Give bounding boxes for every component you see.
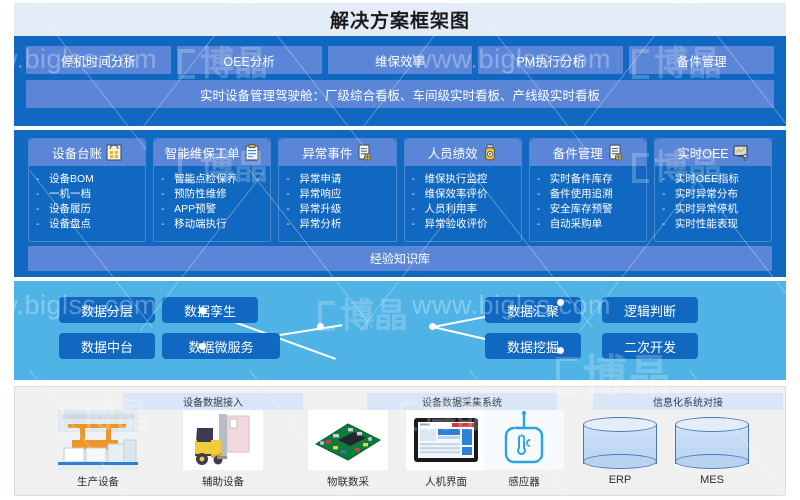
- list-item: -实时OEE指标: [655, 173, 771, 186]
- list-item-label: 异常响应: [299, 188, 395, 201]
- list-item-label: 异常分析: [299, 218, 395, 231]
- cockpit-bar[interactable]: 实时设备管理驾驶舱：厂级综合看板、车间级实时看板、产线级实时看板: [26, 80, 774, 108]
- connector-dot: [199, 307, 206, 314]
- system-cylinder-mes[interactable]: [675, 417, 749, 469]
- module-body: -设备BOM -一机一档 -设备履历 -设备盘点: [29, 166, 145, 241]
- bullet-dash: -: [537, 203, 550, 216]
- cylinder-top: [583, 417, 657, 432]
- platform-pill-logic-judgement[interactable]: 逻辑判断: [602, 297, 698, 323]
- connector-dot: [429, 323, 436, 330]
- platform-pill-data-microservice[interactable]: 数据微服务: [162, 333, 280, 359]
- list-item: -设备盘点: [29, 218, 145, 231]
- device-auxiliary-equipment[interactable]: 辅助设备: [180, 410, 266, 489]
- list-item-label: 维保执行监控: [425, 173, 521, 186]
- list-item-label: 设备BOM: [49, 173, 145, 186]
- knowledge-base-bar[interactable]: 经验知识库: [28, 246, 772, 271]
- bullet-dash: -: [412, 218, 425, 231]
- bullet-dash: -: [161, 218, 174, 231]
- list-item: -异常分析: [279, 218, 395, 231]
- performance-badge-icon: [482, 144, 498, 161]
- device-production-equipment[interactable]: 生产设备: [55, 410, 141, 489]
- list-item: -异常升级: [279, 203, 395, 216]
- list-item: -预防性维修: [154, 188, 270, 201]
- hmi-tablet-photo: [406, 410, 486, 470]
- list-item-label: 备件使用追溯: [550, 188, 646, 201]
- list-item-label: 人员利用率: [425, 203, 521, 216]
- list-item-label: 设备盘点: [49, 218, 145, 231]
- device-iot-acquisition[interactable]: 物联数采: [305, 410, 391, 489]
- work-order-clipboard-icon: [244, 144, 260, 161]
- modules-section: 设备台账 -设备BOM -一机一档 -设备履历 -设备盘点: [14, 130, 786, 277]
- list-item: -移动端执行: [154, 218, 270, 231]
- cylinder-bottom: [675, 454, 749, 469]
- iot-circuit-board-photo: [308, 410, 388, 470]
- device-sensor[interactable]: 感应器: [481, 410, 567, 489]
- list-item: -设备BOM: [29, 173, 145, 186]
- system-caption-mes: MES: [675, 474, 749, 486]
- platform-pill-data-midplatform[interactable]: 数据中台: [59, 333, 155, 359]
- module-title: 人员绩效: [428, 143, 478, 162]
- equipment-ledger-icon: [106, 144, 122, 161]
- module-smart-work-order[interactable]: 智能维保工单 -智能点检保养 -预防性维修 -APP预警 -移动端执行: [153, 138, 271, 242]
- exception-document-icon: [356, 144, 372, 161]
- production-equipment-photo: [58, 410, 138, 470]
- list-item: -实时异常停机: [655, 203, 771, 216]
- realtime-oee-monitor-icon: [733, 144, 749, 161]
- platform-pill-digital-twin[interactable]: 数据孪生: [162, 297, 258, 323]
- analytics-button-pm-execution[interactable]: PM执行分析: [478, 46, 623, 74]
- list-item: -维保效率评价: [405, 188, 521, 201]
- module-title: 实时OEE: [677, 143, 728, 162]
- list-item-label: 实时性能表现: [675, 218, 771, 231]
- module-realtime-oee[interactable]: 实时OEE -实时OEE指标 -实时异常分布 -实时异常停机 -实时性能表现: [654, 138, 772, 242]
- connector-dot: [317, 323, 324, 330]
- module-row: 设备台账 -设备BOM -一机一档 -设备履历 -设备盘点: [28, 138, 772, 242]
- list-item-label: 异常验收评价: [425, 218, 521, 231]
- bullet-dash: -: [161, 173, 174, 186]
- list-item-label: 安全库存预警: [550, 203, 646, 216]
- list-item-label: APP预警: [174, 203, 270, 216]
- list-item: -维保执行监控: [405, 173, 521, 186]
- bullet-dash: -: [537, 218, 550, 231]
- group-label-device-access: 设备数据接入: [123, 393, 303, 410]
- list-item: -设备履历: [29, 203, 145, 216]
- device-caption: 感应器: [508, 474, 540, 489]
- connector-dot: [199, 343, 206, 350]
- forklift-photo: [183, 410, 263, 470]
- platform-pill-data-aggregation[interactable]: 数据汇聚: [485, 297, 581, 323]
- list-item: -自动采购单: [530, 218, 646, 231]
- list-item: -备件使用追溯: [530, 188, 646, 201]
- module-header: 备件管理: [530, 139, 646, 166]
- list-item: -实时性能表现: [655, 218, 771, 231]
- list-item-label: 预防性维修: [174, 188, 270, 201]
- analytics-button-row: 停机时间分析 OEE分析 维保效率 PM执行分析 备件管理: [26, 46, 774, 74]
- module-body: -智能点检保养 -预防性维修 -APP预警 -移动端执行: [154, 166, 270, 241]
- list-item-label: 实时OEE指标: [675, 173, 771, 186]
- device-caption: 人机界面: [425, 474, 467, 489]
- list-item: -智能点检保养: [154, 173, 270, 186]
- list-item-label: 自动采购单: [550, 218, 646, 231]
- list-item: -安全库存预警: [530, 203, 646, 216]
- device-caption: 生产设备: [77, 474, 119, 489]
- bullet-dash: -: [161, 188, 174, 201]
- device-caption: 辅助设备: [202, 474, 244, 489]
- device-layer-section: 设备数据接入 设备数据采集系统 信息化系统对接: [14, 386, 786, 496]
- bullet-dash: -: [412, 188, 425, 201]
- module-body: -异常申请 -异常响应 -异常升级 -异常分析: [279, 166, 395, 241]
- module-exception-event[interactable]: 异常事件 -异常申请 -异常响应 -异常升级 -异常分析: [278, 138, 396, 242]
- list-item-label: 异常升级: [299, 203, 395, 216]
- module-title: 异常事件: [302, 143, 352, 162]
- module-title: 智能维保工单: [165, 143, 240, 162]
- analytics-button-spare-parts[interactable]: 备件管理: [629, 46, 774, 74]
- bullet-dash: -: [537, 173, 550, 186]
- platform-pill-secondary-dev[interactable]: 二次开发: [602, 333, 698, 359]
- list-item-label: 维保效率评价: [425, 188, 521, 201]
- cylinder-bottom: [583, 454, 657, 469]
- list-item-label: 移动端执行: [174, 218, 270, 231]
- list-item-label: 异常申请: [299, 173, 395, 186]
- bullet-dash: -: [662, 173, 675, 186]
- data-platform-section: 数据分层 数据孪生 数据中台 数据微服务 数据汇聚 逻辑判断 数据挖掘 二次开发: [14, 281, 786, 380]
- bullet-dash: -: [286, 218, 299, 231]
- bullet-dash: -: [662, 188, 675, 201]
- bullet-dash: -: [286, 173, 299, 186]
- connector-dot: [557, 347, 564, 354]
- module-body: -实时OEE指标 -实时异常分布 -实时异常停机 -实时性能表现: [655, 166, 771, 241]
- list-item-label: 实时备件库存: [550, 173, 646, 186]
- module-header: 实时OEE: [655, 139, 771, 166]
- list-item-label: 一机一档: [49, 188, 145, 201]
- module-body: -维保执行监控 -维保效率评价 -人员利用率 -异常验收评价: [405, 166, 521, 241]
- analytics-button-downtime[interactable]: 停机时间分析: [26, 46, 171, 74]
- list-item-label: 实时异常停机: [675, 203, 771, 216]
- list-item: -APP预警: [154, 203, 270, 216]
- module-title: 设备台账: [52, 143, 102, 162]
- bullet-dash: -: [286, 188, 299, 201]
- module-header: 人员绩效: [405, 139, 521, 166]
- bullet-dash: -: [36, 203, 49, 216]
- device-caption: 物联数采: [327, 474, 369, 489]
- bullet-dash: -: [36, 173, 49, 186]
- page-title-band: 解决方案框架图: [14, 3, 786, 36]
- system-cylinder-erp[interactable]: [583, 417, 657, 469]
- list-item-label: 智能点检保养: [174, 173, 270, 186]
- module-header: 智能维保工单: [154, 139, 270, 166]
- bullet-dash: -: [36, 188, 49, 201]
- bullet-dash: -: [36, 218, 49, 231]
- list-item: -一机一档: [29, 188, 145, 201]
- analytics-button-maintenance-efficiency[interactable]: 维保效率: [328, 46, 473, 74]
- analytics-button-oee[interactable]: OEE分析: [177, 46, 322, 74]
- system-caption-erp: ERP: [583, 474, 657, 486]
- sensor-icon: [484, 410, 564, 470]
- list-item: -实时备件库存: [530, 173, 646, 186]
- list-item: -异常验收评价: [405, 218, 521, 231]
- bullet-dash: -: [161, 203, 174, 216]
- bullet-dash: -: [412, 203, 425, 216]
- device-hmi[interactable]: 人机界面: [403, 410, 489, 489]
- list-item: -实时异常分布: [655, 188, 771, 201]
- list-item: -异常响应: [279, 188, 395, 201]
- bullet-dash: -: [412, 173, 425, 186]
- platform-pill-data-mining[interactable]: 数据挖掘: [485, 333, 581, 359]
- list-item: -异常申请: [279, 173, 395, 186]
- module-staff-performance[interactable]: 人员绩效 -维保执行监控 -维保效率评价 -人员利用率 -异常验收评价: [404, 138, 522, 242]
- group-label-collection-system: 设备数据采集系统: [367, 393, 557, 410]
- page-title: 解决方案框架图: [330, 6, 470, 33]
- cylinder-top: [675, 417, 749, 432]
- group-label-it-integration: 信息化系统对接: [593, 393, 783, 410]
- solution-framework-diagram: 解决方案框架图 停机时间分析 OEE分析 维保效率 PM执行分析 备件管理 实时…: [0, 0, 800, 500]
- list-item-label: 设备履历: [49, 203, 145, 216]
- module-body: -实时备件库存 -备件使用追溯 -安全库存预警 -自动采购单: [530, 166, 646, 241]
- platform-pill-data-layering[interactable]: 数据分层: [59, 297, 155, 323]
- module-title: 备件管理: [553, 143, 603, 162]
- connector-dot: [557, 299, 564, 306]
- list-item: -人员利用率: [405, 203, 521, 216]
- module-spare-parts[interactable]: 备件管理 -实时备件库存 -备件使用追溯 -安全库存预警 -自动采购单: [529, 138, 647, 242]
- bullet-dash: -: [286, 203, 299, 216]
- module-equipment-ledger[interactable]: 设备台账 -设备BOM -一机一档 -设备履历 -设备盘点: [28, 138, 146, 242]
- bullet-dash: -: [662, 218, 675, 231]
- bullet-dash: -: [662, 203, 675, 216]
- list-item-label: 实时异常分布: [675, 188, 771, 201]
- module-header: 异常事件: [279, 139, 395, 166]
- module-header: 设备台账: [29, 139, 145, 166]
- bullet-dash: -: [537, 188, 550, 201]
- spare-parts-list-icon: [607, 144, 623, 161]
- analytics-section: 停机时间分析 OEE分析 维保效率 PM执行分析 备件管理 实时设备管理驾驶舱：…: [14, 36, 786, 126]
